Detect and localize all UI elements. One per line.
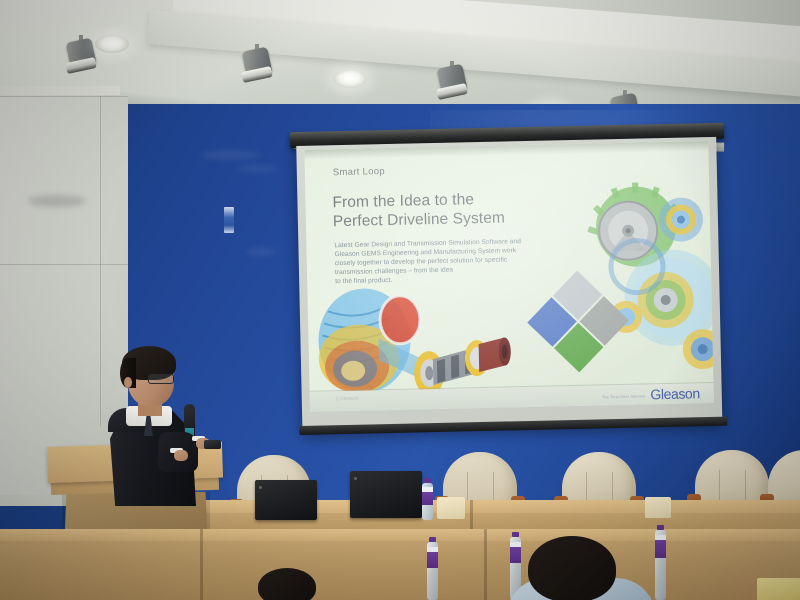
slide-eyebrow: Smart Loop [333, 166, 385, 178]
projected-slide-surface[interactable]: Smart Loop From the Idea to the Perfect … [304, 141, 714, 412]
ceiling-spotlight-icon [242, 49, 276, 89]
tissue-box[interactable] [437, 497, 465, 519]
wall-scuff [236, 165, 278, 172]
water-bottle[interactable] [422, 478, 433, 520]
wall-marker-tag [224, 207, 234, 233]
laptop[interactable] [255, 480, 317, 520]
wall-panel-seam [0, 96, 128, 97]
slide-title-line-2: Perfect Driveline System [333, 208, 505, 231]
projection-screen[interactable]: Smart Loop From the Idea to the Perfect … [296, 126, 722, 435]
presentation-clicker[interactable] [204, 440, 221, 449]
presenter-ear [124, 377, 132, 388]
slide-title: From the Idea to the Perfect Driveline S… [332, 189, 505, 231]
brand-tagline: The Total Gear Solution [602, 394, 646, 402]
slide-body-text: Latest Gear Design and Transmission Simu… [334, 237, 540, 287]
tissue-box[interactable] [645, 497, 671, 518]
wall-smudge [28, 195, 86, 207]
water-bottle[interactable] [655, 525, 666, 600]
wall-scuff [246, 248, 276, 256]
ceiling-downlight-icon [333, 70, 367, 88]
presenter [100, 344, 220, 504]
slide-page-footer: 2 Gleason [336, 396, 359, 402]
wall-scuff [200, 150, 260, 160]
audience-head [258, 568, 316, 600]
brand-wordmark: Gleason [650, 386, 700, 401]
audience-head [528, 536, 616, 600]
conference-room-photo: Smart Loop From the Idea to the Perfect … [0, 0, 800, 600]
table-joint-seam [484, 529, 487, 600]
wall-panel-seam [0, 264, 128, 265]
table-joint-seam [200, 529, 203, 600]
front-table-apron [0, 541, 800, 600]
tissue-box[interactable] [757, 578, 800, 600]
slide-brand-lockup: The Total Gear Solution Gleason [602, 386, 700, 402]
hypoid-gearset-illustration [315, 279, 513, 403]
slide-content: Smart Loop From the Idea to the Perfect … [304, 141, 714, 412]
hypoid-gearset-svg [315, 279, 513, 403]
laptop[interactable] [350, 471, 422, 518]
presenter-hand [174, 450, 188, 461]
presenter-glasses [148, 374, 174, 384]
water-bottle[interactable] [427, 537, 438, 600]
ceiling-downlight-icon [95, 35, 129, 53]
ceiling-spotlight-icon [437, 66, 471, 106]
